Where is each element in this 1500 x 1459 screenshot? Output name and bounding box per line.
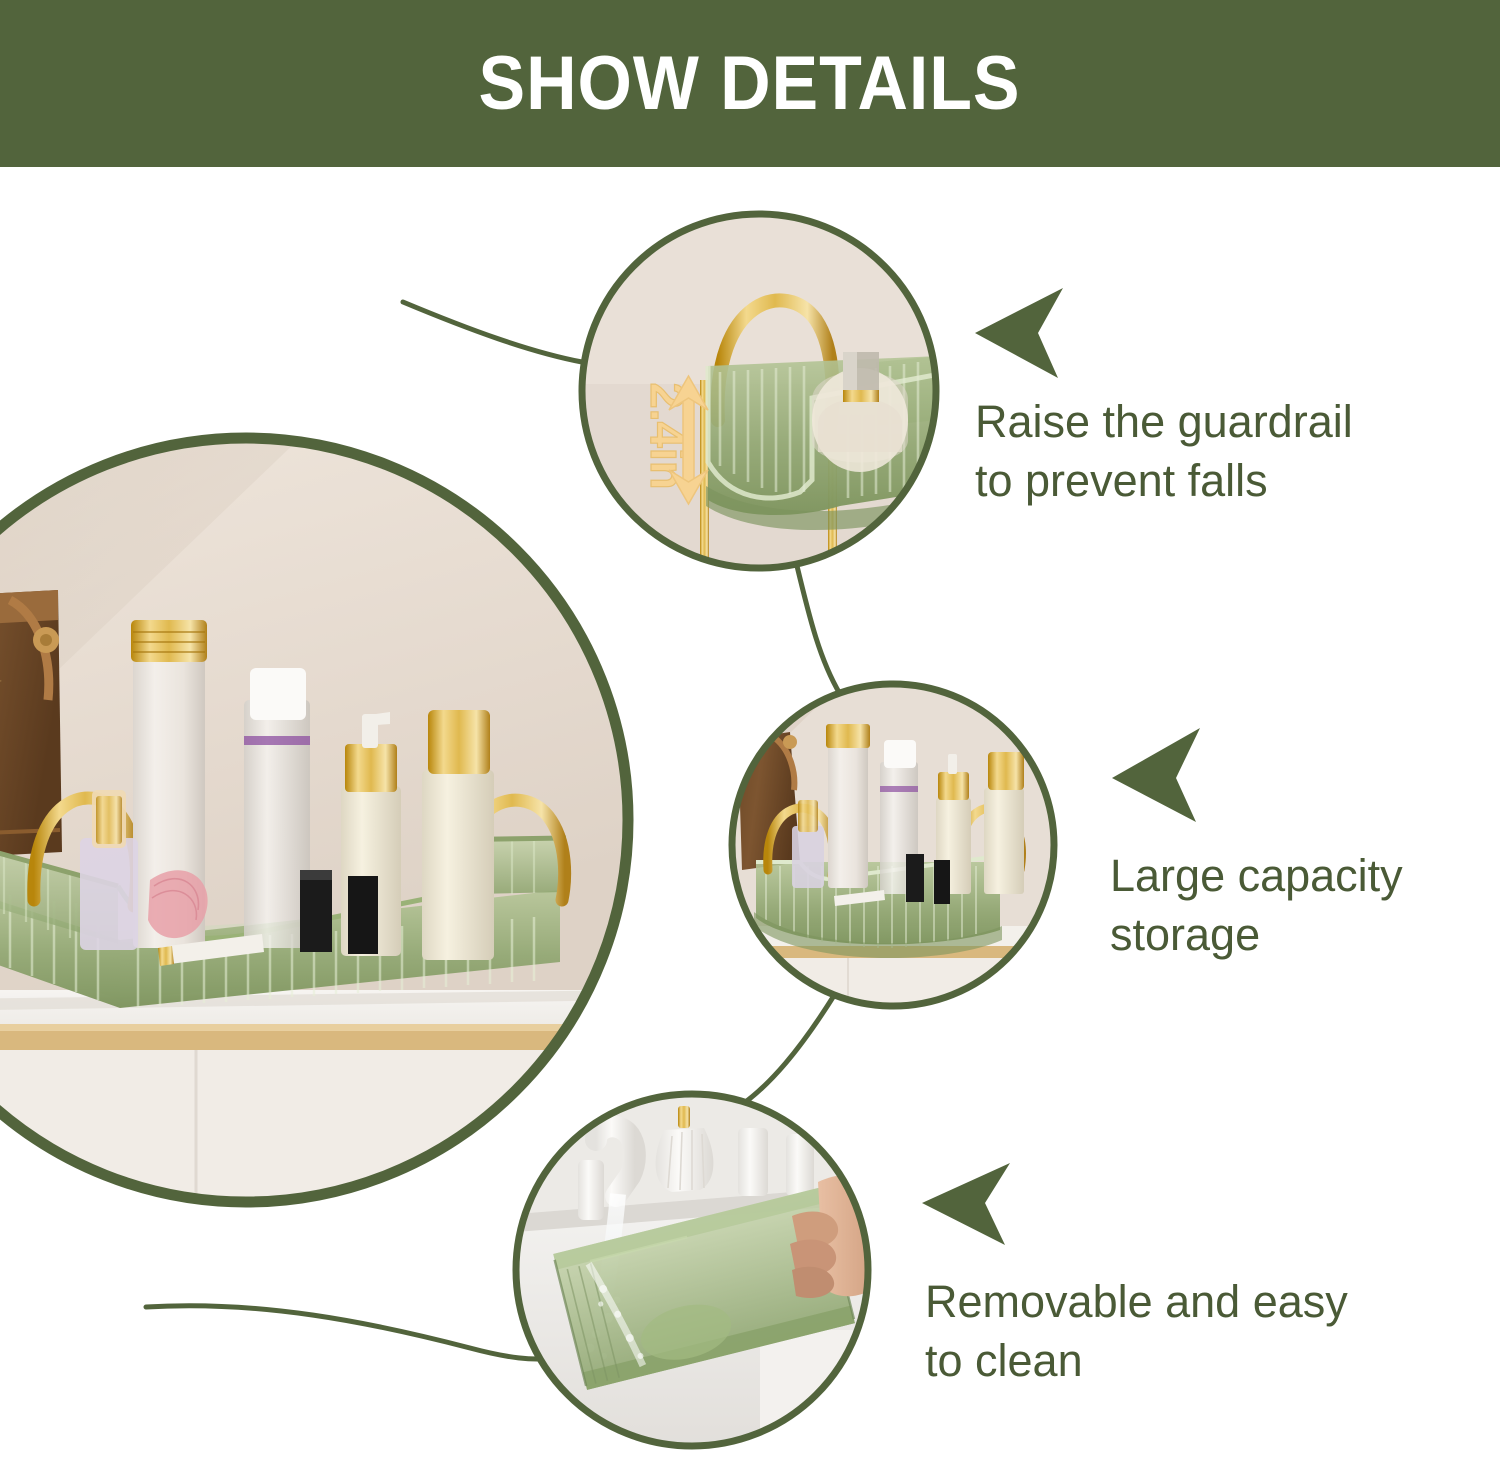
callout-arrow-3-icon (922, 1163, 1010, 1245)
callout-arrow-2-icon (1112, 728, 1200, 822)
illustration-layer: L V V L (0, 0, 1500, 1459)
connector-hero-to-callout1 (403, 302, 582, 362)
callout-arrow-1-icon (975, 288, 1063, 378)
callout-3: Removable and easy to clean (925, 1272, 1395, 1391)
callout-2-label: Large capacity storage (1110, 846, 1500, 965)
callout-1-photo-circle: 2.4in (582, 214, 940, 570)
callout-2: Large capacity storage (1110, 846, 1500, 965)
callout-1-label: Raise the guardrail to prevent falls (975, 392, 1445, 511)
connector-callout1-to-callout2 (797, 566, 840, 694)
callout-3-label: Removable and easy to clean (925, 1272, 1395, 1391)
callout-3-photo-circle (516, 1094, 884, 1446)
infographic-page: SHOW DETAILS (0, 0, 1500, 1459)
connector-callout2-to-callout3 (740, 994, 835, 1106)
callout-2-photo-circle (732, 684, 1054, 1018)
callout-1: Raise the guardrail to prevent falls (975, 392, 1445, 511)
hero-photo-circle: L V V L (0, 438, 640, 1262)
